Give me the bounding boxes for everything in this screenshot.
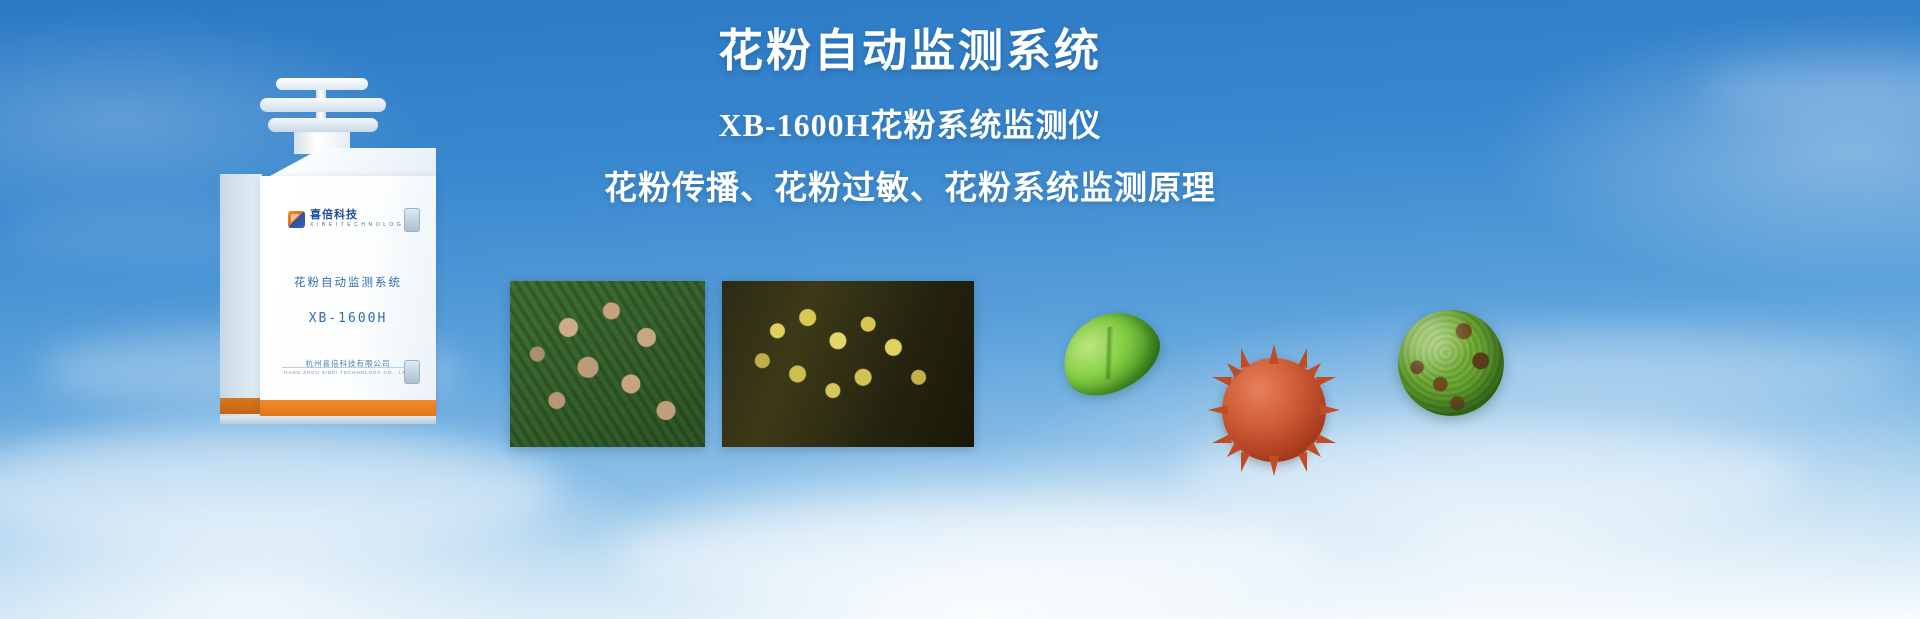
- oval-pollen-grain: [1048, 296, 1172, 410]
- cloud-decoration: [620, 500, 1320, 610]
- device-panel-model: XB-1600H: [260, 311, 436, 326]
- device-brand-logo: 喜倍科技 X I B E I T E C H N O L O G Y: [288, 210, 409, 228]
- cloud-decoration: [0, 430, 560, 550]
- device-base-side-stripe: [220, 398, 262, 414]
- device-panel-title: 花粉自动监测系统: [260, 274, 436, 290]
- device-latch-lower: [404, 360, 420, 384]
- banner-title: 花粉自动监测系统: [600, 28, 1220, 73]
- pollen-monitor-device: 喜倍科技 X I B E I T E C H N O L O G Y 花粉自动监…: [198, 78, 458, 428]
- rough-spherical-pollen-grain: [1398, 310, 1504, 416]
- device-inlet-cap-mid: [260, 98, 386, 112]
- banner-subtitle-model: XB-1600H花粉系统监测仪: [600, 109, 1220, 141]
- banner-subtitle-topics: 花粉传播、花粉过敏、花粉系统监测原理: [600, 171, 1220, 204]
- catkin-flower-photo: [722, 281, 974, 447]
- xibei-logo-icon: [288, 211, 305, 228]
- device-side-panel: [220, 174, 262, 416]
- cloud-decoration: [1450, 330, 1910, 400]
- pollen-monitoring-banner: 喜倍科技 X I B E I T E C H N O L O G Y 花粉自动监…: [0, 0, 1920, 619]
- cloud-decoration: [1700, 60, 1920, 120]
- device-brand-name-cn: 喜倍科技: [310, 210, 409, 221]
- spiky-pollen-grain: [1222, 358, 1326, 462]
- device-inlet-cap-top: [276, 78, 368, 90]
- device-foot: [220, 416, 436, 424]
- device-latch-upper: [404, 208, 420, 232]
- device-base-stripe: [260, 400, 436, 416]
- pollen-spikes-icon: [1208, 344, 1340, 476]
- banner-heading-group: 花粉自动监测系统 XB-1600H花粉系统监测仪 花粉传播、花粉过敏、花粉系统监…: [600, 28, 1220, 204]
- device-brand-name-en: X I B E I T E C H N O L O G Y: [310, 223, 409, 228]
- device-inlet-cap-bottom: [268, 118, 378, 132]
- cypress-pollen-cones-photo: [510, 281, 705, 447]
